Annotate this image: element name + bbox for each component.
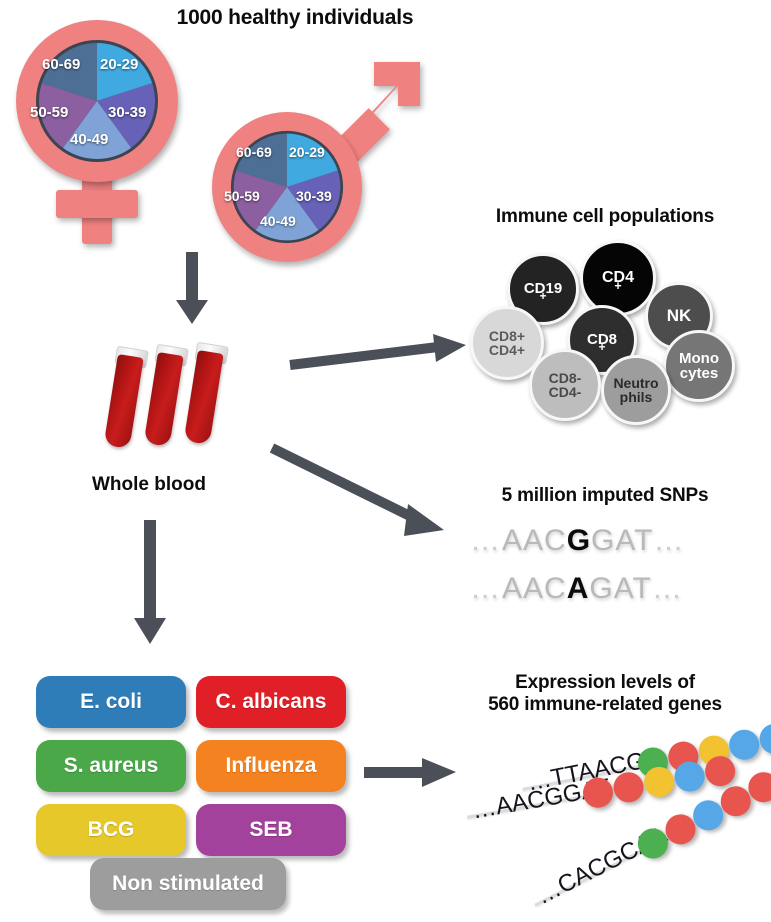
snp-row-0-pre: AAC (502, 524, 567, 557)
snp-row-0-post: GAT (591, 524, 653, 557)
dna-sequence-text: …TTAACGG (525, 744, 666, 798)
female-pie-label-40-49: 40-49 (70, 131, 108, 148)
immune-cell-label: CD4+ (489, 343, 525, 357)
arrow-stimulation-to-expression (364, 756, 460, 790)
immune-cell-label: CD19+ (524, 281, 562, 296)
snp-row-1-post: GAT (589, 572, 651, 605)
snp-sequence-row: …AACAGAT… (470, 572, 684, 606)
dna-backbone-line (522, 765, 642, 791)
expression-bead (757, 721, 771, 756)
section-title-snps: 5 million imputed SNPs (440, 485, 770, 507)
snp-row-0-suffix: … (653, 524, 685, 557)
snp-row-1-suffix: … (652, 572, 684, 605)
immune-cell-label: cytes (679, 366, 719, 381)
male-pie-label-20-29: 20-29 (289, 144, 325, 160)
immune-cell-label: CD8- (549, 371, 582, 385)
stimulation-box-e-coli[interactable]: E. coli (36, 676, 186, 728)
stimulation-label: BCG (88, 818, 135, 842)
page-title-cohort: 1000 healthy individuals (170, 6, 420, 31)
male-gender-symbol: 60-69 20-29 30-39 40-49 50-59 (204, 60, 424, 260)
snp-row-1-pre: AAC (502, 572, 567, 605)
snp-row-0-highlight: G (567, 524, 591, 557)
immune-cell-label: CD4- (549, 385, 582, 399)
female-symbol-crossbar (56, 190, 138, 218)
expression-bead (633, 823, 673, 863)
expression-bead (611, 770, 646, 805)
expression-bead (672, 759, 707, 794)
dna-sequence-text: …AACGGAT (470, 774, 612, 826)
stimulation-label: S. aureus (64, 754, 159, 778)
tube-blood-fill (144, 352, 184, 447)
stimulation-box-c-albicans[interactable]: C. albicans (196, 676, 346, 728)
stimulation-label: E. coli (80, 690, 142, 714)
snp-row-1-prefix: … (470, 572, 502, 605)
female-pie-label-50-59: 50-59 (30, 104, 68, 121)
immune-cell-label: CD4+ (602, 270, 634, 286)
immune-cell-cd8-cd4[interactable]: CD8-CD4- (529, 349, 601, 421)
expression-bead (635, 745, 670, 780)
stimulation-box-seb[interactable]: SEB (196, 804, 346, 856)
stimulation-box-s-aureus[interactable]: S. aureus (36, 740, 186, 792)
expression-title-line2: 560 immune-related genes (440, 694, 770, 716)
expression-title-line1: Expression levels of (440, 672, 770, 694)
expression-bead (581, 775, 616, 810)
snp-row-1-highlight: A (567, 572, 590, 605)
immune-cell-label: NK (667, 307, 692, 324)
dna-sequence-text: …CACGCAA (532, 821, 672, 911)
immune-cell-label: Mono (679, 351, 719, 366)
dna-backbone-line (467, 795, 588, 819)
male-pie-label-40-49: 40-49 (260, 213, 296, 229)
expression-bead (743, 767, 771, 807)
stimulation-box-bcg[interactable]: BCG (36, 804, 186, 856)
dna-backbone-line (534, 848, 644, 906)
immune-cell-label: Neutro (613, 376, 658, 390)
immune-cell-neutrophils[interactable]: Neutrophils (601, 355, 671, 425)
diagram-canvas: 1000 healthy individuals Immune cell pop… (0, 0, 771, 922)
blood-tubes-group (110, 340, 240, 460)
male-pie-label-60-69: 60-69 (236, 144, 272, 160)
snp-sequence-block: …AACGGAT… …AACAGAT… (470, 524, 760, 624)
expression-bead (727, 727, 762, 762)
expression-bead (660, 809, 700, 849)
immune-cell-label: CD8+ (587, 332, 617, 347)
section-title-immune-cells: Immune cell populations (440, 206, 770, 228)
expression-bead (642, 765, 677, 800)
stimulation-box-non-stimulated[interactable]: Non stimulated (90, 858, 286, 910)
whole-blood-label: Whole blood (92, 474, 206, 496)
arrow-blood-to-stimulation (130, 520, 170, 650)
female-pie-label-60-69: 60-69 (42, 56, 80, 73)
snp-sequence-row: …AACGGAT… (470, 524, 685, 558)
male-pie-label-30-39: 30-39 (296, 188, 332, 204)
female-pie-label-20-29: 20-29 (100, 56, 138, 73)
immune-cell-label: CD8+ (489, 329, 525, 343)
stimulation-label: Influenza (225, 754, 316, 778)
stimulation-label: SEB (249, 818, 292, 842)
immune-cell-monocytes[interactable]: Monocytes (663, 330, 735, 402)
stimulation-box-influenza[interactable]: Influenza (196, 740, 346, 792)
tube-blood-fill (184, 350, 224, 445)
expression-bead (696, 733, 731, 768)
snp-row-0-prefix: … (470, 524, 502, 557)
expression-bead (688, 795, 728, 835)
section-title-expression: Expression levels of 560 immune-related … (440, 672, 770, 717)
stimulation-label: Non stimulated (112, 872, 264, 896)
male-pie-label-50-59: 50-59 (224, 188, 260, 204)
immune-cell-cd4[interactable]: CD4+ (580, 240, 656, 316)
female-gender-symbol: 60-69 20-29 30-39 40-49 50-59 (8, 12, 188, 242)
expression-bead (716, 781, 756, 821)
stimulation-label: C. albicans (216, 690, 327, 714)
arrow-cohort-to-blood (172, 252, 212, 326)
expression-bead (666, 739, 701, 774)
expression-bead (703, 754, 738, 789)
arrow-blood-to-snp (272, 448, 457, 548)
female-pie-label-30-39: 30-39 (108, 104, 146, 121)
tube-blood-fill (104, 354, 144, 449)
arrow-blood-to-immune (290, 332, 470, 372)
immune-cell-label: phils (613, 390, 658, 404)
